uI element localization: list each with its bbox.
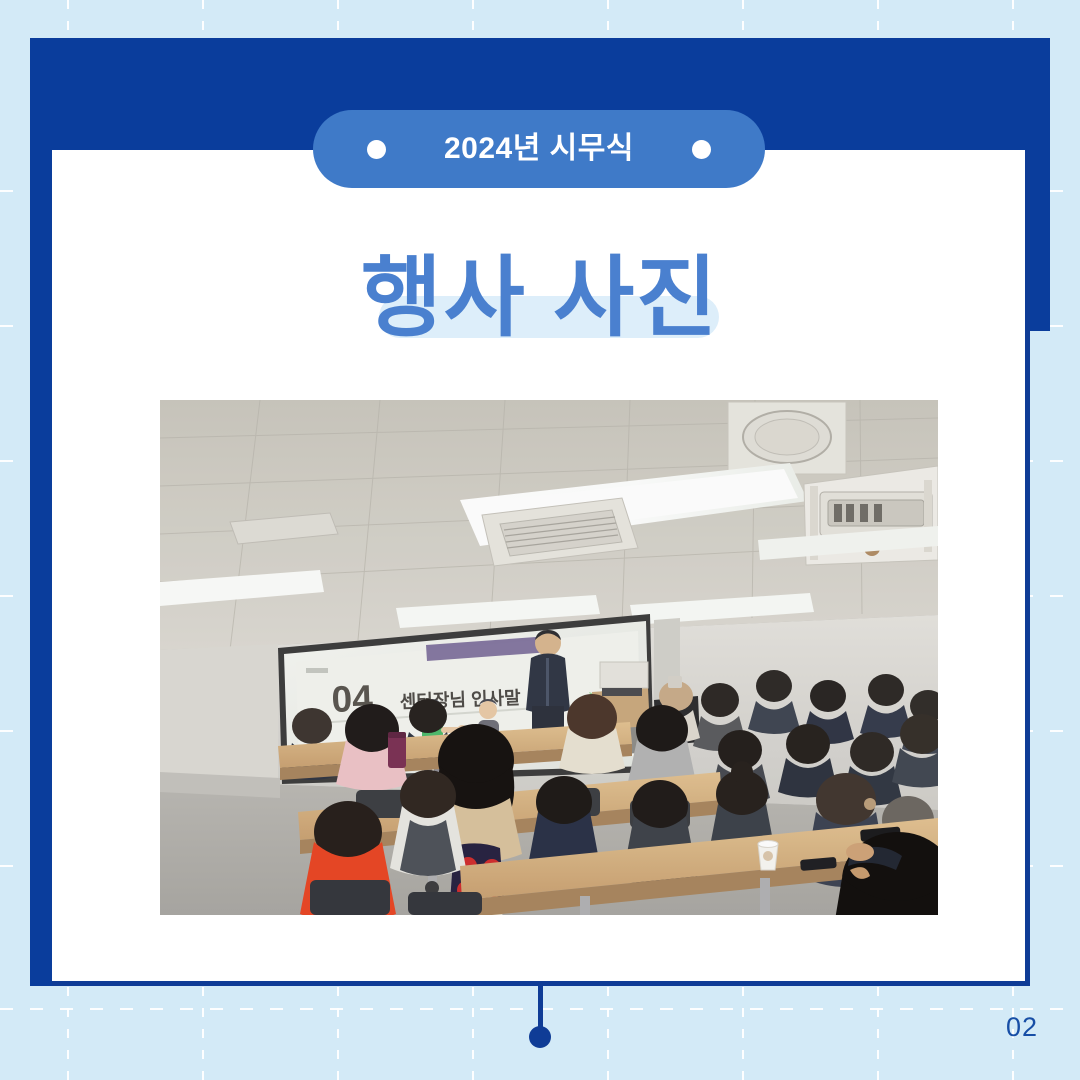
pin-dot-icon xyxy=(529,1026,551,1048)
left-blue-band xyxy=(30,38,52,986)
page-title: 행사 사진 xyxy=(361,248,719,347)
badge-dot-left-icon xyxy=(367,140,386,159)
page-number: 02 xyxy=(1006,1012,1038,1043)
page-title-container: 행사 사진 xyxy=(0,238,1080,358)
event-photo: 04 센터장님 인사말 xyxy=(160,400,938,915)
section-badge: 2024년 시무식 xyxy=(313,110,765,188)
badge-dot-right-icon xyxy=(692,140,711,159)
badge-label: 2024년 시무식 xyxy=(444,134,634,164)
slide-canvas: 2024년 시무식 행사 사진 xyxy=(0,0,1080,1080)
